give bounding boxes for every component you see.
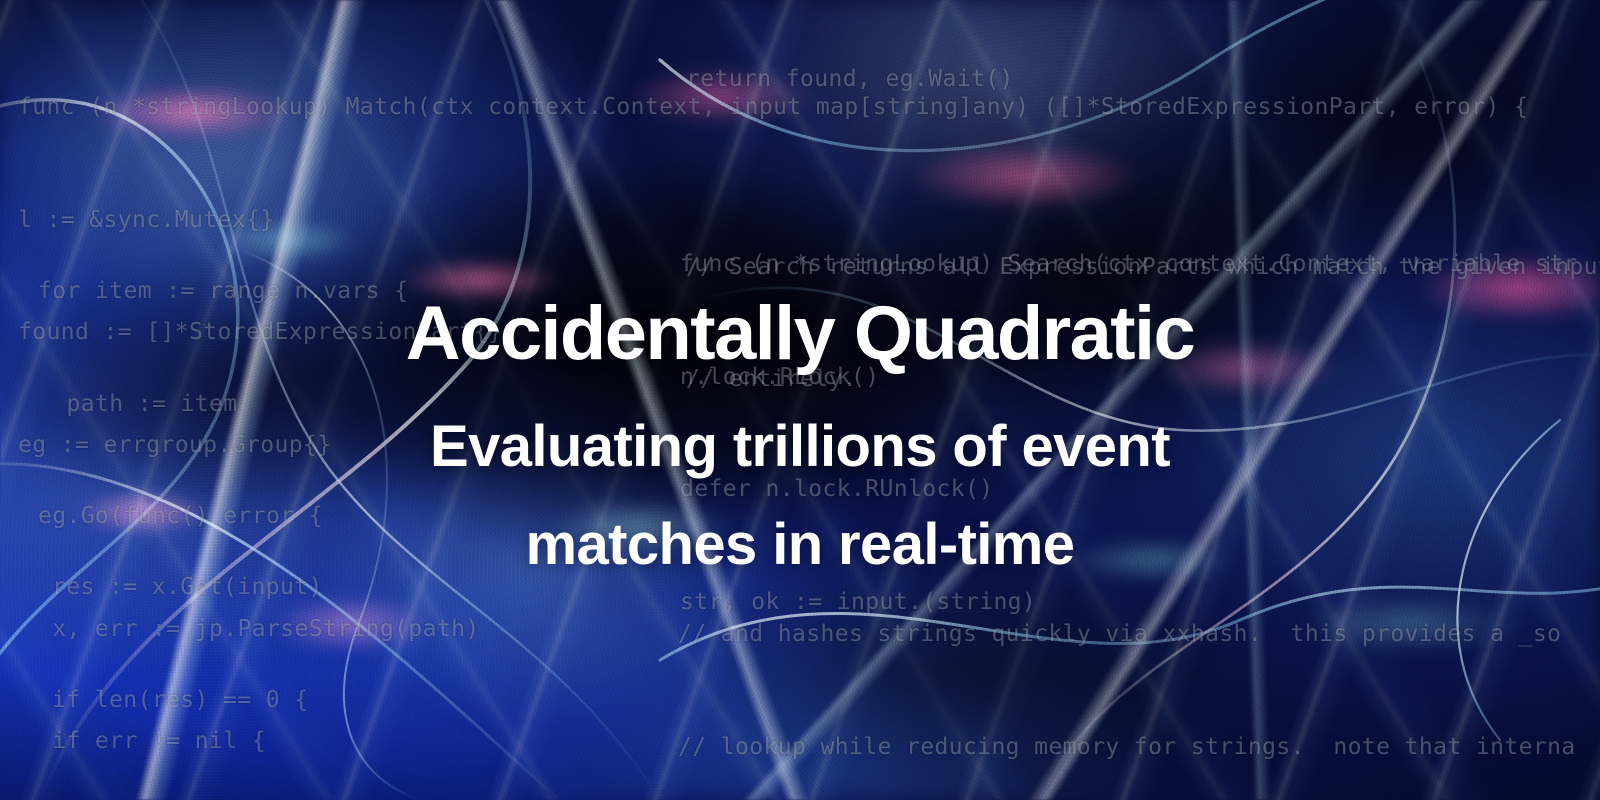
code-line: func (n *stringLookup) Search(ctx contex… <box>680 246 1578 284</box>
hero-banner: func (n *stringLookup) Match(ctx context… <box>0 0 1600 800</box>
page-title: Accidentally Quadratic <box>0 296 1600 372</box>
code-line: // lookup while reducing memory for stri… <box>678 729 1576 767</box>
hero-subtitle-line-2: matches in real-time <box>0 496 1600 594</box>
code-line: if len(res) == 0 { <box>52 682 422 720</box>
hero-headline: Accidentally Quadratic Evaluating trilli… <box>0 296 1600 594</box>
code-line: // and hashes strings quickly via xxhash… <box>678 616 1576 654</box>
code-line: return nil <box>52 794 422 800</box>
code-line: return found, eg.Wait() <box>686 61 1600 99</box>
hero-subtitle-line-1: Evaluating trillions of event <box>0 398 1600 496</box>
